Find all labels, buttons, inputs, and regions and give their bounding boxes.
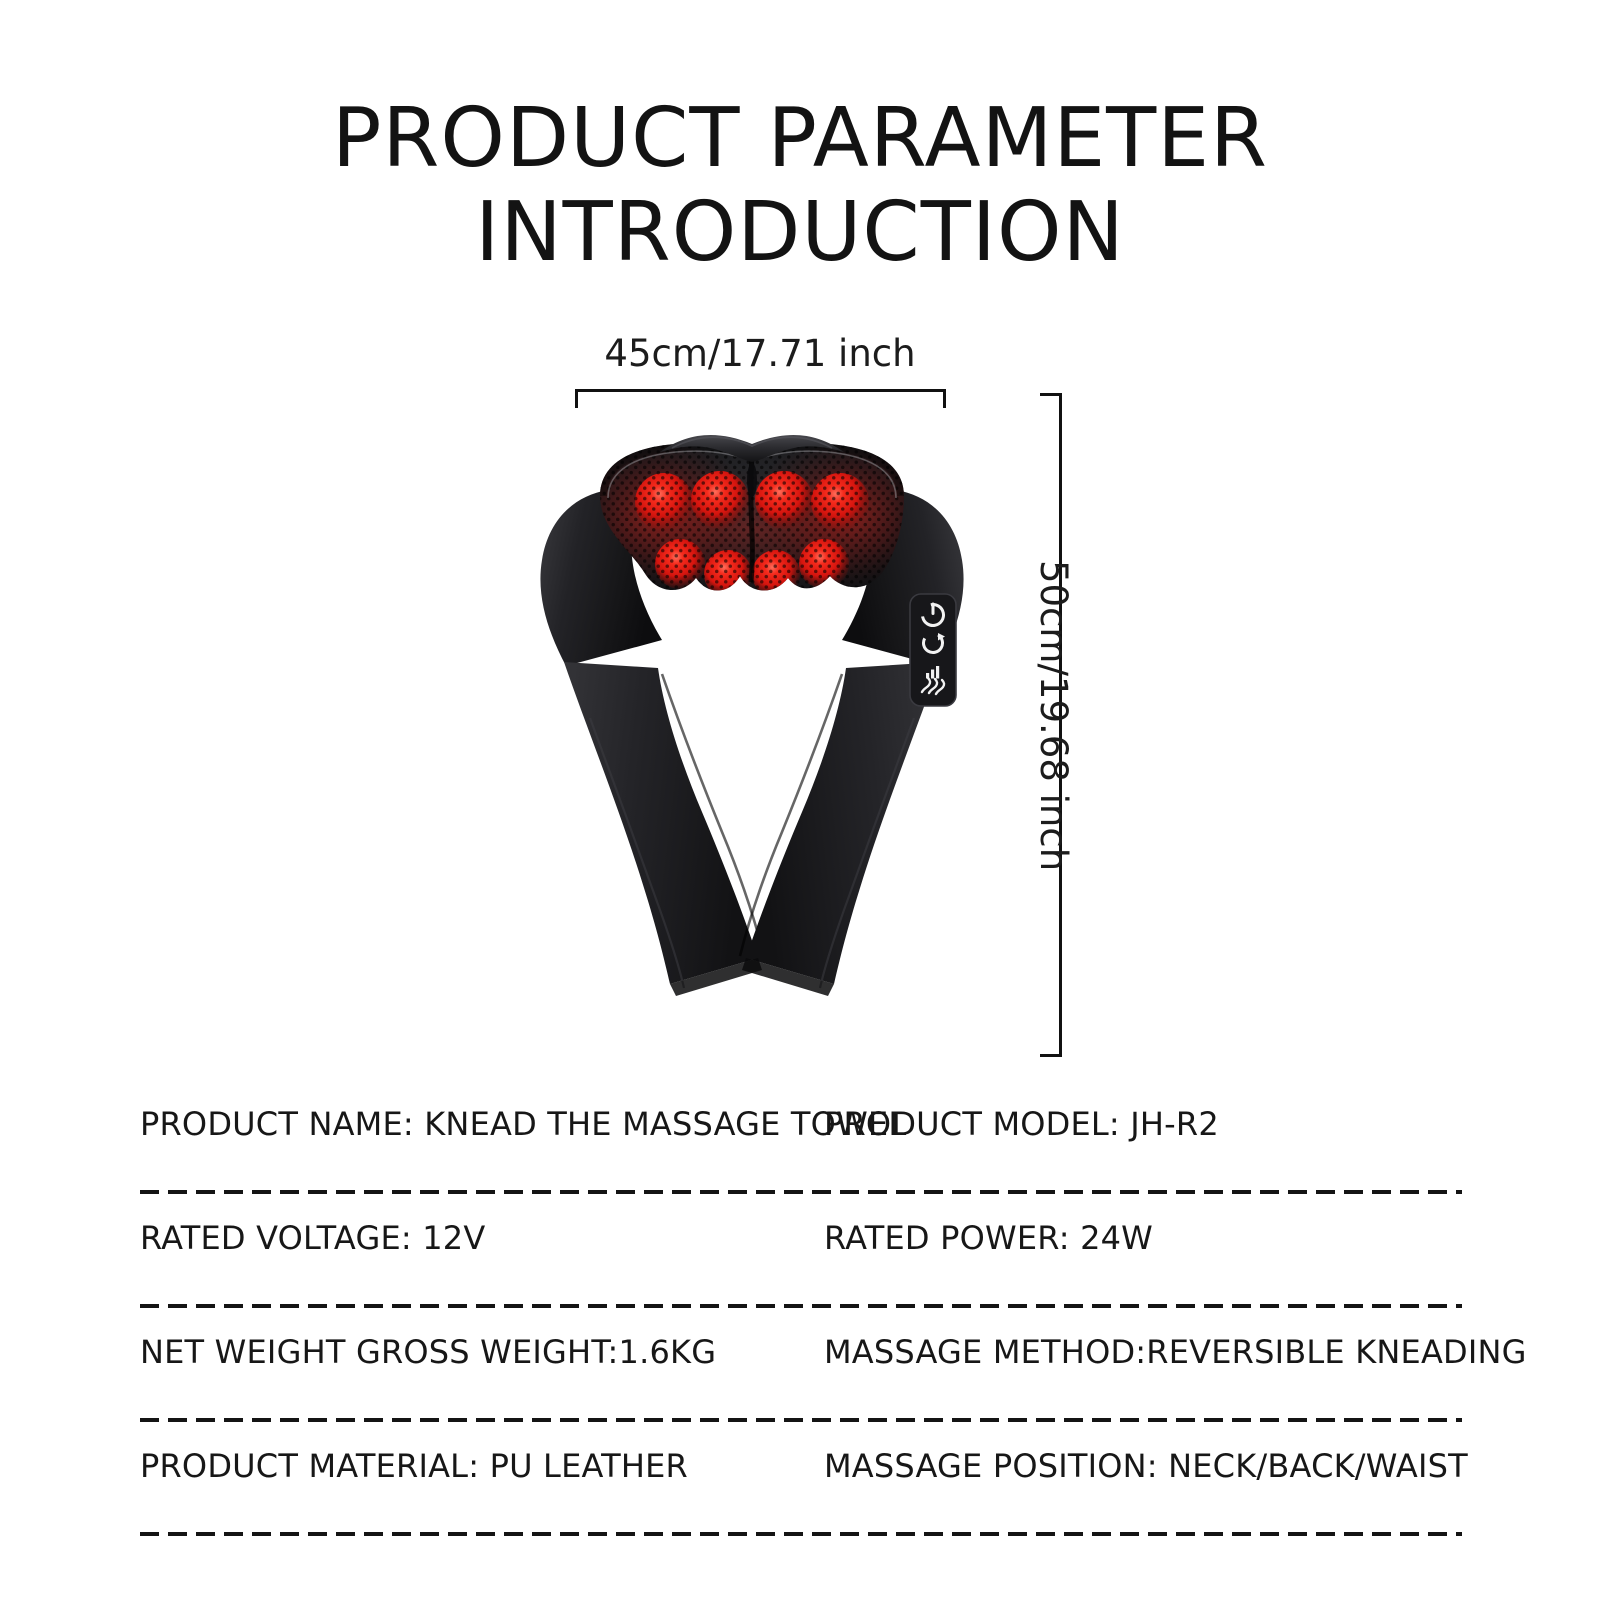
product-image — [512, 418, 992, 1018]
width-dimension-bar — [575, 389, 946, 392]
row-divider — [140, 1532, 1462, 1536]
product-parameter-page: PRODUCT PARAMETER INTRODUCTION 45cm/17.7… — [0, 0, 1600, 1600]
page-title-line-2: INTRODUCTION — [0, 186, 1600, 280]
spec-massage-method: MASSAGE METHOD:REVERSIBLE KNEADING — [824, 1314, 1527, 1390]
spec-table: PRODUCT NAME: KNEAD THE MASSAGE TOWEL PR… — [0, 1086, 1600, 1542]
control-panel — [910, 594, 956, 706]
height-dimension-tick-bottom — [1040, 1054, 1062, 1057]
width-dimension-label: 45cm/17.71 inch — [540, 332, 980, 376]
row-divider — [140, 1304, 1462, 1308]
table-row: RATED VOLTAGE: 12V RATED POWER: 24W — [0, 1200, 1600, 1314]
spec-net-weight: NET WEIGHT GROSS WEIGHT:1.6KG — [140, 1314, 716, 1390]
page-title: PRODUCT PARAMETER INTRODUCTION — [0, 92, 1600, 280]
left-strap — [564, 662, 758, 984]
spec-product-material: PRODUCT MATERIAL: PU LEATHER — [140, 1428, 688, 1504]
table-row: NET WEIGHT GROSS WEIGHT:1.6KG MASSAGE ME… — [0, 1314, 1600, 1428]
width-dimension-tick-right — [943, 389, 946, 408]
height-dimension-tick-top — [1040, 393, 1062, 396]
right-strap — [746, 662, 940, 984]
table-row: PRODUCT NAME: KNEAD THE MASSAGE TOWEL PR… — [0, 1086, 1600, 1200]
spec-massage-position: MASSAGE POSITION: NECK/BACK/WAIST — [824, 1428, 1468, 1504]
row-divider — [140, 1418, 1462, 1422]
table-row: PRODUCT MATERIAL: PU LEATHER MASSAGE POS… — [0, 1428, 1600, 1542]
width-dimension-tick-left — [575, 389, 578, 408]
spec-product-name: PRODUCT NAME: KNEAD THE MASSAGE TOWEL — [140, 1086, 906, 1162]
spec-rated-power: RATED POWER: 24W — [824, 1200, 1153, 1276]
width-dimension-line — [575, 389, 946, 409]
height-dimension-label: 50cm/19.68 inch — [1031, 560, 1075, 871]
page-title-line-1: PRODUCT PARAMETER — [0, 92, 1600, 186]
spec-rated-voltage: RATED VOLTAGE: 12V — [140, 1200, 485, 1276]
row-divider — [140, 1190, 1462, 1194]
spec-product-model: PRODUCT MODEL: JH-R2 — [824, 1086, 1219, 1162]
